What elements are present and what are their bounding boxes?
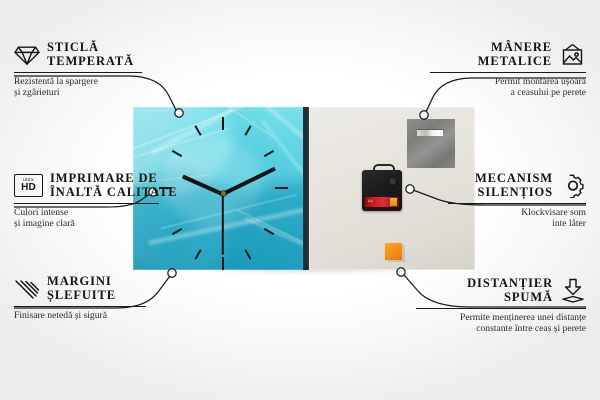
feature-metal-handles: MÂNERE METALICE Permit montarea ușoară a… <box>430 41 586 99</box>
hour-tick <box>222 117 224 130</box>
battery: AA <box>365 197 399 207</box>
feature-rule <box>14 306 146 307</box>
feature-rule <box>430 72 586 73</box>
mechanism-loop <box>373 164 395 175</box>
feature-title: IMPRIMARE DE ÎNALTĂ CALITATE <box>50 172 178 199</box>
mechanism-dial <box>388 177 397 186</box>
clock-hub <box>221 191 226 196</box>
feature-subtitle: Permite menținerea unei distanțe constan… <box>416 312 586 335</box>
hanger-slot <box>417 129 443 136</box>
feature-silent-mechanism: MECANISM SILENȚIOS Klockvisare som inte … <box>448 172 586 230</box>
product-image: AA <box>133 107 478 272</box>
feature-title: DISTANȚIER SPUMĂ <box>467 277 553 304</box>
feature-rule <box>416 308 586 309</box>
diamond-icon <box>14 44 40 66</box>
hour-tick <box>222 257 224 270</box>
gear-icon <box>560 173 586 198</box>
feature-title: MECANISM SILENȚIOS <box>475 172 553 199</box>
clock-mechanism: AA <box>362 170 402 211</box>
feature-subtitle: Finisare netedă și sigură <box>14 310 164 321</box>
feature-title: MÂNERE METALICE <box>478 41 552 68</box>
feature-subtitle: Culori intense și imagine clară <box>14 207 179 230</box>
feature-polished-edges: MARGINI ȘLEFUITE Finisare netedă și sigu… <box>14 275 164 321</box>
foam-pad <box>385 243 402 260</box>
spacer-down-arrow-icon <box>560 278 586 304</box>
hour-tick <box>275 187 288 189</box>
second-hand <box>222 193 224 255</box>
ultra-hd-icon-large-text: HD <box>21 183 36 193</box>
feature-rule <box>14 72 142 73</box>
feature-foam-spacer: DISTANȚIER SPUMĂ Permite menținerea unei… <box>416 277 586 335</box>
battery-label: AA <box>368 199 373 203</box>
feature-subtitle: Permit montarea ușoară a ceasului pe per… <box>430 76 586 99</box>
polished-edges-icon <box>14 278 40 300</box>
feature-title: STICLĂ TEMPERATĂ <box>47 41 134 68</box>
feature-subtitle: Rezistentă la spargere și zgârieturi <box>14 76 164 99</box>
infographic-canvas: AA <box>0 0 600 400</box>
feature-rule <box>14 203 159 204</box>
ultra-hd-icon: ultra HD <box>14 174 43 197</box>
battery-terminal <box>390 198 397 206</box>
feature-high-quality-print: ultra HD IMPRIMARE DE ÎNALTĂ CALITATE Cu… <box>14 172 179 230</box>
feature-title: MARGINI ȘLEFUITE <box>47 275 116 302</box>
picture-frame-icon <box>559 43 586 66</box>
feature-rule <box>448 203 586 204</box>
feature-tempered-glass: STICLĂ TEMPERATĂ Rezistentă la spargere … <box>14 41 164 99</box>
metal-hanger-plate <box>407 119 455 168</box>
feature-subtitle: Klockvisare som inte låter <box>448 207 586 230</box>
